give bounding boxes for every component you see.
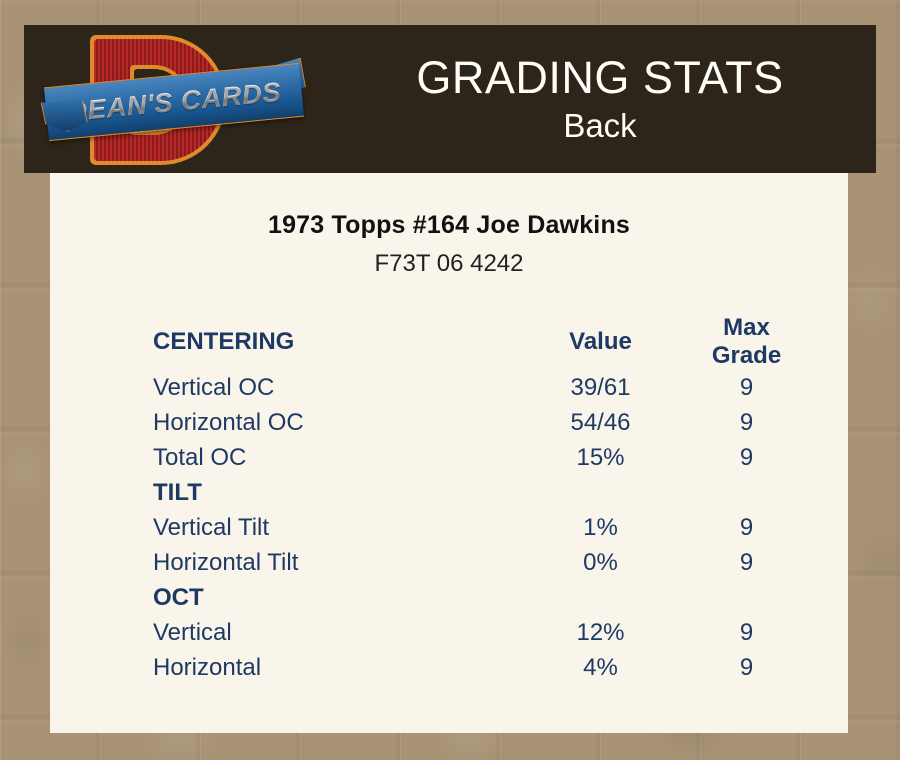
table-row: Total OC15%9 bbox=[50, 440, 848, 475]
grading-stats-body: CENTERINGValueMax GradeVertical OC39/619… bbox=[50, 314, 848, 685]
page-title: GRADING STATS bbox=[416, 52, 783, 104]
stat-label: Horizontal bbox=[50, 650, 508, 685]
stat-max-grade: 9 bbox=[693, 440, 848, 475]
stat-label: Total OC bbox=[50, 440, 508, 475]
section-title: TILT bbox=[50, 475, 508, 510]
stat-value: 39/61 bbox=[508, 370, 693, 405]
card-serial-number: F73T 06 4242 bbox=[50, 250, 848, 278]
table-row: Horizontal Tilt0%9 bbox=[50, 545, 848, 580]
logo-ribbon-text: DEAN'S CARDS bbox=[66, 76, 283, 127]
stat-value: 0% bbox=[508, 545, 693, 580]
column-header-value: Value bbox=[508, 314, 693, 370]
section-spacer-grade bbox=[693, 580, 848, 615]
stat-max-grade: 9 bbox=[693, 405, 848, 440]
card-title: 1973 Topps #164 Joe Dawkins bbox=[50, 211, 848, 240]
header-bar: DEAN'S CARDS GRADING STATS Back bbox=[24, 25, 876, 173]
stat-label: Vertical bbox=[50, 615, 508, 650]
header-title-group: GRADING STATS Back bbox=[324, 25, 876, 173]
section-spacer-grade bbox=[693, 475, 848, 510]
stat-label: Horizontal Tilt bbox=[50, 545, 508, 580]
stat-max-grade: 9 bbox=[693, 650, 848, 685]
column-header-max-grade: Max Grade bbox=[693, 314, 848, 370]
stat-max-grade: 9 bbox=[693, 370, 848, 405]
grading-stats-table: CENTERINGValueMax GradeVertical OC39/619… bbox=[50, 314, 848, 685]
stat-max-grade: 9 bbox=[693, 545, 848, 580]
section-title: OCT bbox=[50, 580, 508, 615]
section-header-row: CENTERINGValueMax Grade bbox=[50, 314, 848, 370]
stat-max-grade: 9 bbox=[693, 510, 848, 545]
stat-value: 12% bbox=[508, 615, 693, 650]
stat-value: 54/46 bbox=[508, 405, 693, 440]
stat-label: Vertical OC bbox=[50, 370, 508, 405]
table-row: Vertical12%9 bbox=[50, 615, 848, 650]
section-spacer-value bbox=[508, 580, 693, 615]
stat-value: 1% bbox=[508, 510, 693, 545]
stat-label: Horizontal OC bbox=[50, 405, 508, 440]
stat-max-grade: 9 bbox=[693, 615, 848, 650]
stat-label: Vertical Tilt bbox=[50, 510, 508, 545]
section-spacer-value bbox=[508, 475, 693, 510]
section-header-row: OCT bbox=[50, 580, 848, 615]
content-panel: 1973 Topps #164 Joe Dawkins F73T 06 4242… bbox=[50, 173, 848, 733]
table-row: Vertical OC39/619 bbox=[50, 370, 848, 405]
table-row: Horizontal OC54/469 bbox=[50, 405, 848, 440]
section-title: CENTERING bbox=[50, 314, 508, 370]
table-row: Vertical Tilt1%9 bbox=[50, 510, 848, 545]
stat-value: 15% bbox=[508, 440, 693, 475]
stat-value: 4% bbox=[508, 650, 693, 685]
table-row: Horizontal4%9 bbox=[50, 650, 848, 685]
page-subtitle: Back bbox=[563, 106, 636, 146]
deans-cards-logo[interactable]: DEAN'S CARDS bbox=[46, 27, 304, 172]
section-header-row: TILT bbox=[50, 475, 848, 510]
